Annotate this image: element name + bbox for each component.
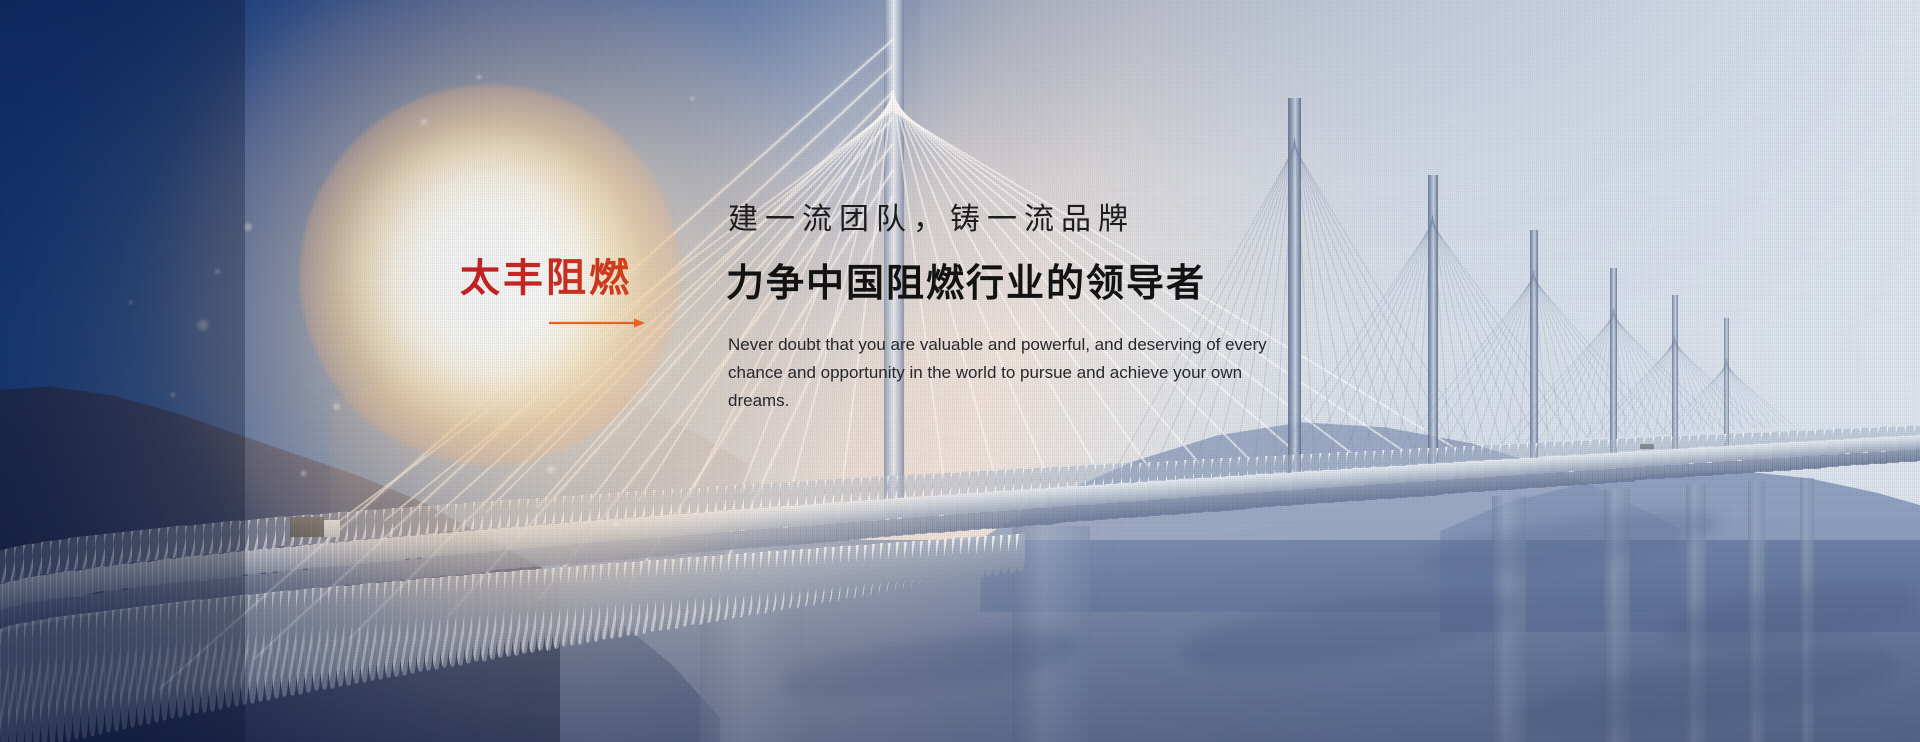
banner-content: 太丰阻燃 建一流团队，铸一流品牌 力争中国阻燃行业的领导者 Never doub… bbox=[0, 0, 1920, 742]
brand-logo-text: 太丰阻燃 bbox=[460, 258, 660, 298]
headline-secondary: 力争中国阻燃行业的领导者 bbox=[726, 252, 1206, 307]
brand-logo[interactable]: 太丰阻燃 bbox=[460, 258, 660, 298]
headline-primary: 建一流团队，铸一流品牌 bbox=[728, 194, 1135, 238]
sub-copy-paragraph: Never doubt that you are valuable and po… bbox=[728, 331, 1288, 415]
hero-banner: 太丰阻燃 建一流团队，铸一流品牌 力争中国阻燃行业的领导者 Never doub… bbox=[0, 0, 1920, 742]
arrow-right-icon bbox=[548, 316, 648, 330]
